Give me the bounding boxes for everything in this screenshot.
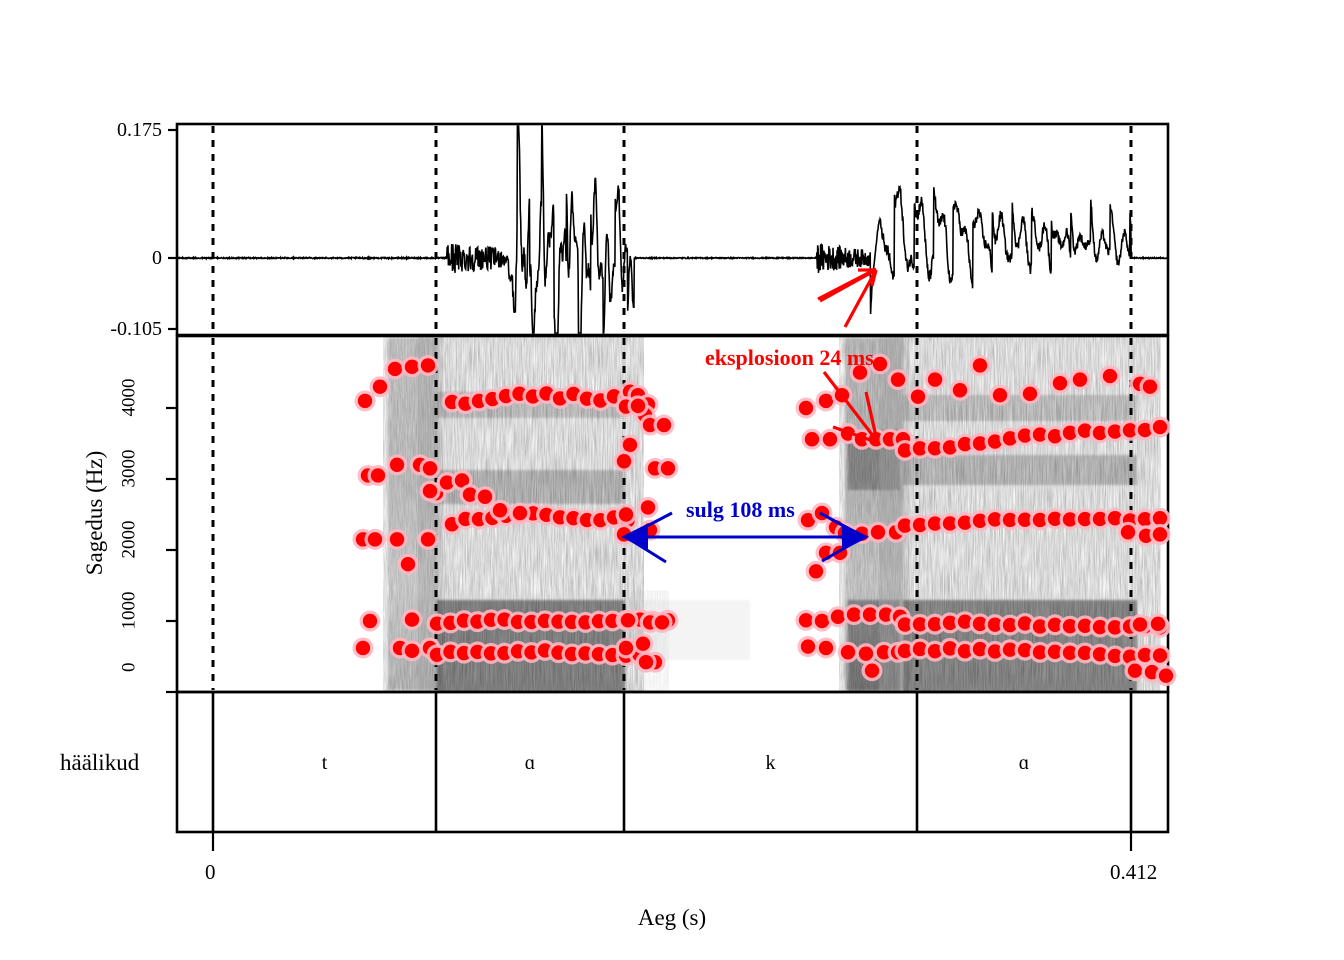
freq-tick-4000: 4000 [120, 379, 139, 439]
frequency-axis-ticks [166, 336, 177, 692]
waveform-yzero-label: 0 [12, 248, 162, 268]
tier-name-label: häälikud [60, 750, 139, 776]
amplitude-axis-ticks [168, 130, 177, 329]
freq-tick-2000: 2000 [120, 521, 139, 581]
waveform-ymax-label: 0.175 [12, 120, 162, 140]
freq-tick-3000: 3000 [120, 450, 139, 510]
freq-tick-1000: 1000 [120, 592, 139, 652]
segment-label-a2: ɑ [917, 752, 1131, 775]
frequency-axis-title: Sagedus (Hz) [82, 413, 108, 613]
time-tick-end: 0.412 [1110, 860, 1157, 885]
segment-label-t: t [213, 752, 436, 775]
eksplosioon-arrows-waveform [818, 269, 876, 327]
annotation-sulg: sulg 108 ms [686, 497, 795, 523]
segment-label-a1: ɑ [436, 752, 624, 775]
annotation-eksplosioon: eksplosioon 24 ms [705, 345, 874, 371]
waveform-trace [177, 126, 1168, 333]
segment-label-k: k [624, 752, 917, 775]
waveform-ymin-label: -0.105 [12, 319, 162, 339]
time-tick-start: 0 [205, 860, 216, 885]
figure-canvas [0, 0, 1344, 960]
time-axis-title: Aeg (s) [0, 905, 1344, 931]
praat-figure: 0.175 0 -0.105 0 1000 2000 3000 4000 Sag… [0, 0, 1344, 960]
time-axis-ticks [213, 832, 1131, 851]
freq-tick-0: 0 [120, 663, 139, 723]
